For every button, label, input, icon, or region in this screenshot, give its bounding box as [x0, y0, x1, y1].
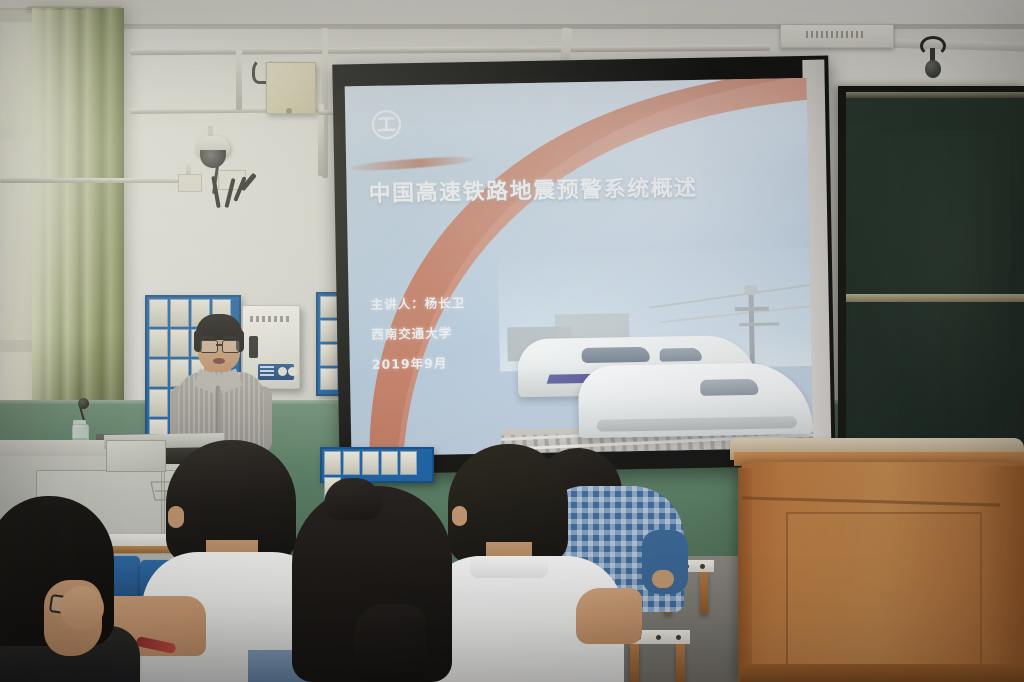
slide-date-line: 2019年9月	[372, 353, 448, 373]
lecture-room-photograph: 中国高速铁路地震预警系统概述 主讲人：杨长卫 西南交通大学 2019年9月	[0, 0, 1024, 682]
key-card-rack[interactable]	[320, 447, 434, 483]
audience-member-arm	[576, 588, 642, 644]
card-pocket	[149, 359, 168, 387]
lectern-right-column	[978, 466, 1024, 682]
lectern-left-edge	[738, 468, 752, 682]
control-unit-vents	[260, 366, 274, 378]
conduit-pipe-vertical	[236, 50, 242, 110]
audience-member-hand	[60, 586, 104, 630]
control-unit-label	[250, 316, 290, 322]
speaker-glasses-lens	[200, 340, 218, 353]
chalkboard-top-strip	[846, 92, 1024, 98]
card-pocket	[400, 451, 417, 475]
housing-brand-text	[806, 31, 866, 38]
electrical-junction-box	[266, 62, 316, 114]
power-outlet[interactable]	[178, 174, 202, 192]
slide-affiliation-line: 西南交通大学	[371, 322, 452, 342]
card-pocket	[320, 296, 338, 318]
audience-member-ear	[168, 506, 184, 528]
ceiling-speaker	[925, 60, 941, 78]
card-pocket	[320, 320, 338, 342]
card-pocket	[381, 451, 398, 475]
china-railway-logo-icon	[369, 107, 404, 142]
speaker-eyebrow	[223, 336, 237, 339]
lectern-monitor[interactable]	[106, 440, 166, 472]
projection-screen[interactable]: 中国高速铁路地震预警系统概述 主讲人：杨长卫 西南交通大学 2019年9月	[332, 55, 835, 474]
audience-member-hair-bun	[324, 478, 382, 520]
desk-bolt	[700, 564, 705, 569]
card-pocket	[149, 389, 168, 417]
desk-leg	[700, 570, 708, 614]
speaker-eyebrow	[201, 336, 215, 339]
chalkboard-divider-rail	[846, 294, 1024, 302]
speaker-glasses-bridge	[216, 344, 223, 346]
conduit-pipe-horizontal	[0, 178, 190, 183]
card-pocket	[320, 344, 338, 366]
card-pocket	[343, 451, 360, 475]
card-pocket	[324, 451, 341, 475]
audience-member-hand	[652, 570, 674, 588]
control-unit-slot	[249, 336, 258, 358]
control-unit-knob[interactable]	[288, 367, 297, 376]
card-pocket	[170, 299, 189, 327]
window-daylight-glow	[0, 10, 110, 420]
lectern-base	[740, 664, 1024, 682]
chalk-smudge	[860, 130, 1010, 430]
audience-member-ear	[452, 506, 467, 526]
microphone-icon[interactable]	[78, 398, 89, 409]
card-pocket	[170, 329, 189, 357]
card-pocket	[149, 299, 168, 327]
desk-leg	[676, 642, 685, 682]
desk-bolt	[676, 635, 681, 640]
ceiling-strip	[0, 0, 1024, 26]
desk-bolt	[656, 635, 661, 640]
speaker-mouth	[213, 358, 225, 364]
card-pocket	[320, 368, 338, 390]
projector-haze	[345, 78, 814, 456]
junction-box-screw	[286, 108, 292, 114]
audience-member-ponytail	[354, 604, 426, 682]
slide-presenter-line: 主讲人：杨长卫	[370, 292, 465, 313]
control-unit-knob[interactable]	[278, 367, 287, 376]
speaker-glasses-lens	[222, 340, 240, 353]
card-pocket	[362, 451, 379, 475]
lectern-front-panel	[786, 512, 982, 674]
presentation-slide: 中国高速铁路地震预警系统概述 主讲人：杨长卫 西南交通大学 2019年9月	[345, 78, 814, 456]
shirt-collar	[470, 556, 548, 578]
desk-leg	[630, 642, 639, 682]
card-pocket	[149, 329, 168, 357]
